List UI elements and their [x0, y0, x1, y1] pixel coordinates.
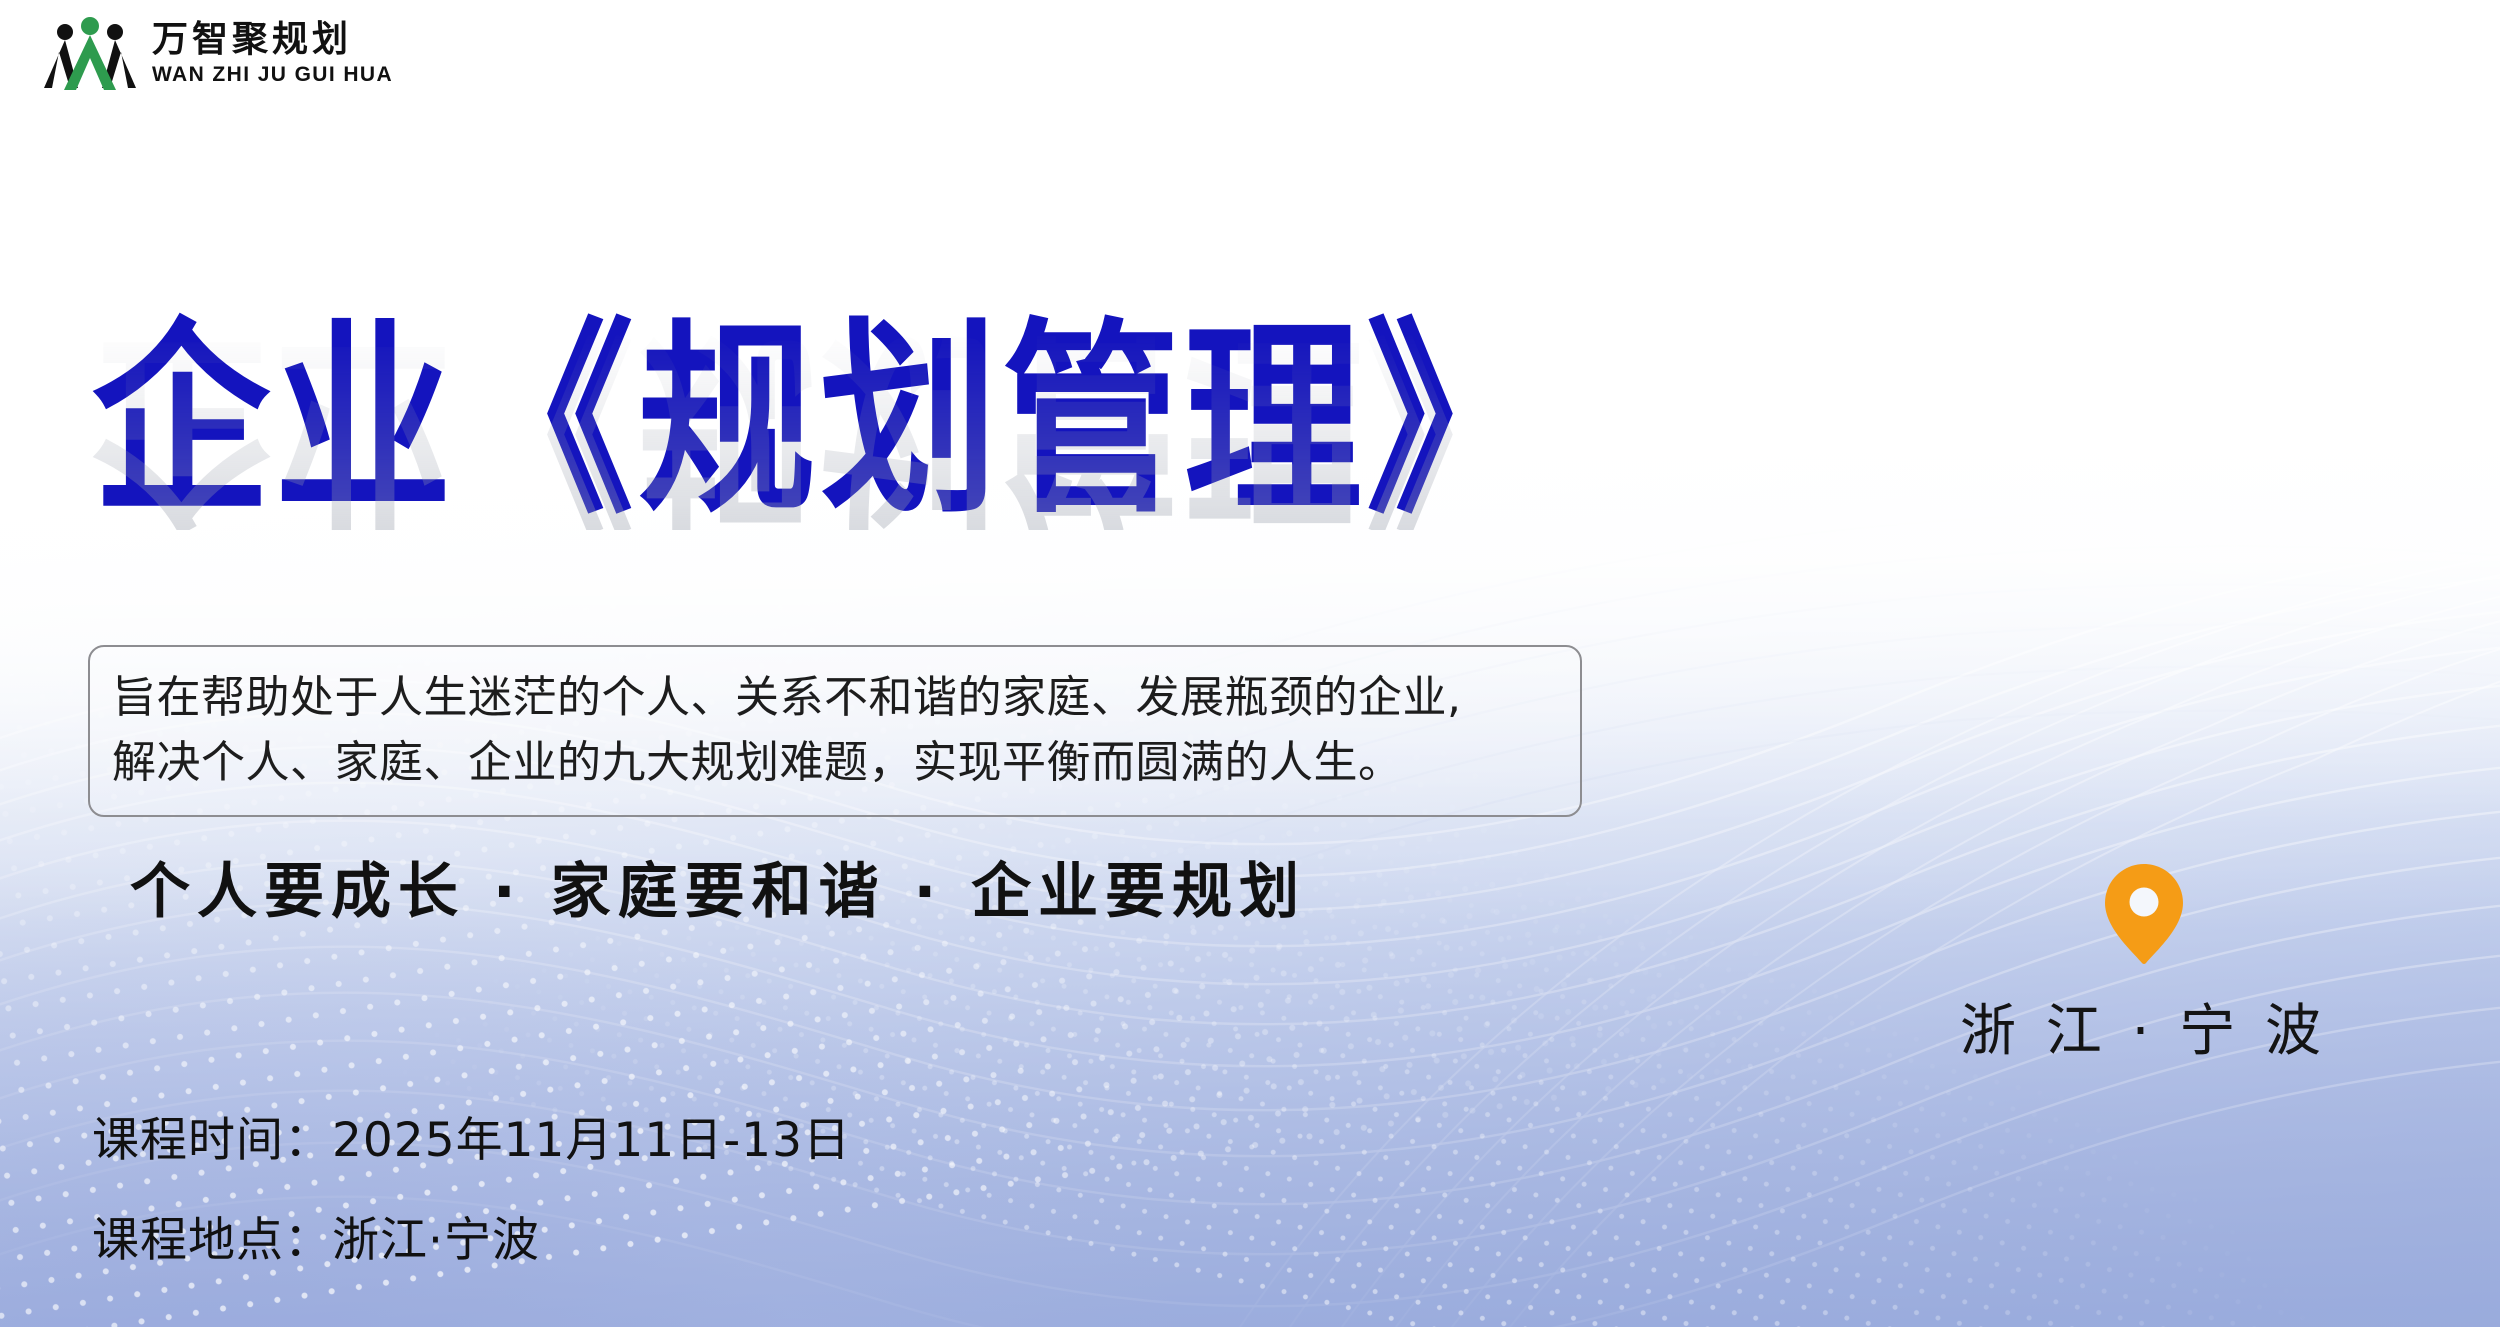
location-label: 浙 江 · 宁 波: [1960, 986, 2327, 1067]
course-time: 课程时间：2025年11月11日-13日: [92, 1117, 851, 1164]
course-info-block: 课程时间：2025年11月11日-13日 课程地点：浙江·宁波: [92, 1117, 851, 1264]
location-group: 浙 江 · 宁 波: [1960, 862, 2327, 1067]
poster-canvas: 万智聚规划 WAN ZHI JU GUI HUA 企业《规划管理》 企业《规划管…: [0, 0, 2500, 1327]
description-box: 旨在帮助处于人生迷茫的个人、关系不和谐的家庭、发展瓶颈的企业, 解决个人、家庭、…: [88, 645, 1582, 817]
brand-name-cn: 万智聚规划: [152, 21, 393, 57]
tagline: 个人要成长 · 家庭要和谐 · 企业要规划: [130, 843, 1306, 930]
course-place: 课程地点：浙江·宁波: [92, 1217, 851, 1264]
city-skyline-graphic: [1210, 1027, 2500, 1327]
description-line-2: 解决个人、家庭、企业的九大规划难题，实现平衡而圆满的人生。: [112, 730, 1558, 795]
map-pin-icon: [2103, 862, 2185, 966]
page-title: 企业《规划管理》: [92, 318, 1548, 524]
brand-logo: 万智聚规划 WAN ZHI JU GUI HUA: [44, 14, 393, 92]
hero-title-block: 企业《规划管理》 企业《规划管理》: [92, 318, 1548, 496]
brand-name-en: WAN ZHI JU GUI HUA: [152, 64, 393, 85]
description-line-1: 旨在帮助处于人生迷茫的个人、关系不和谐的家庭、发展瓶颈的企业,: [112, 665, 1558, 730]
three-people-logo-icon: [44, 14, 136, 92]
